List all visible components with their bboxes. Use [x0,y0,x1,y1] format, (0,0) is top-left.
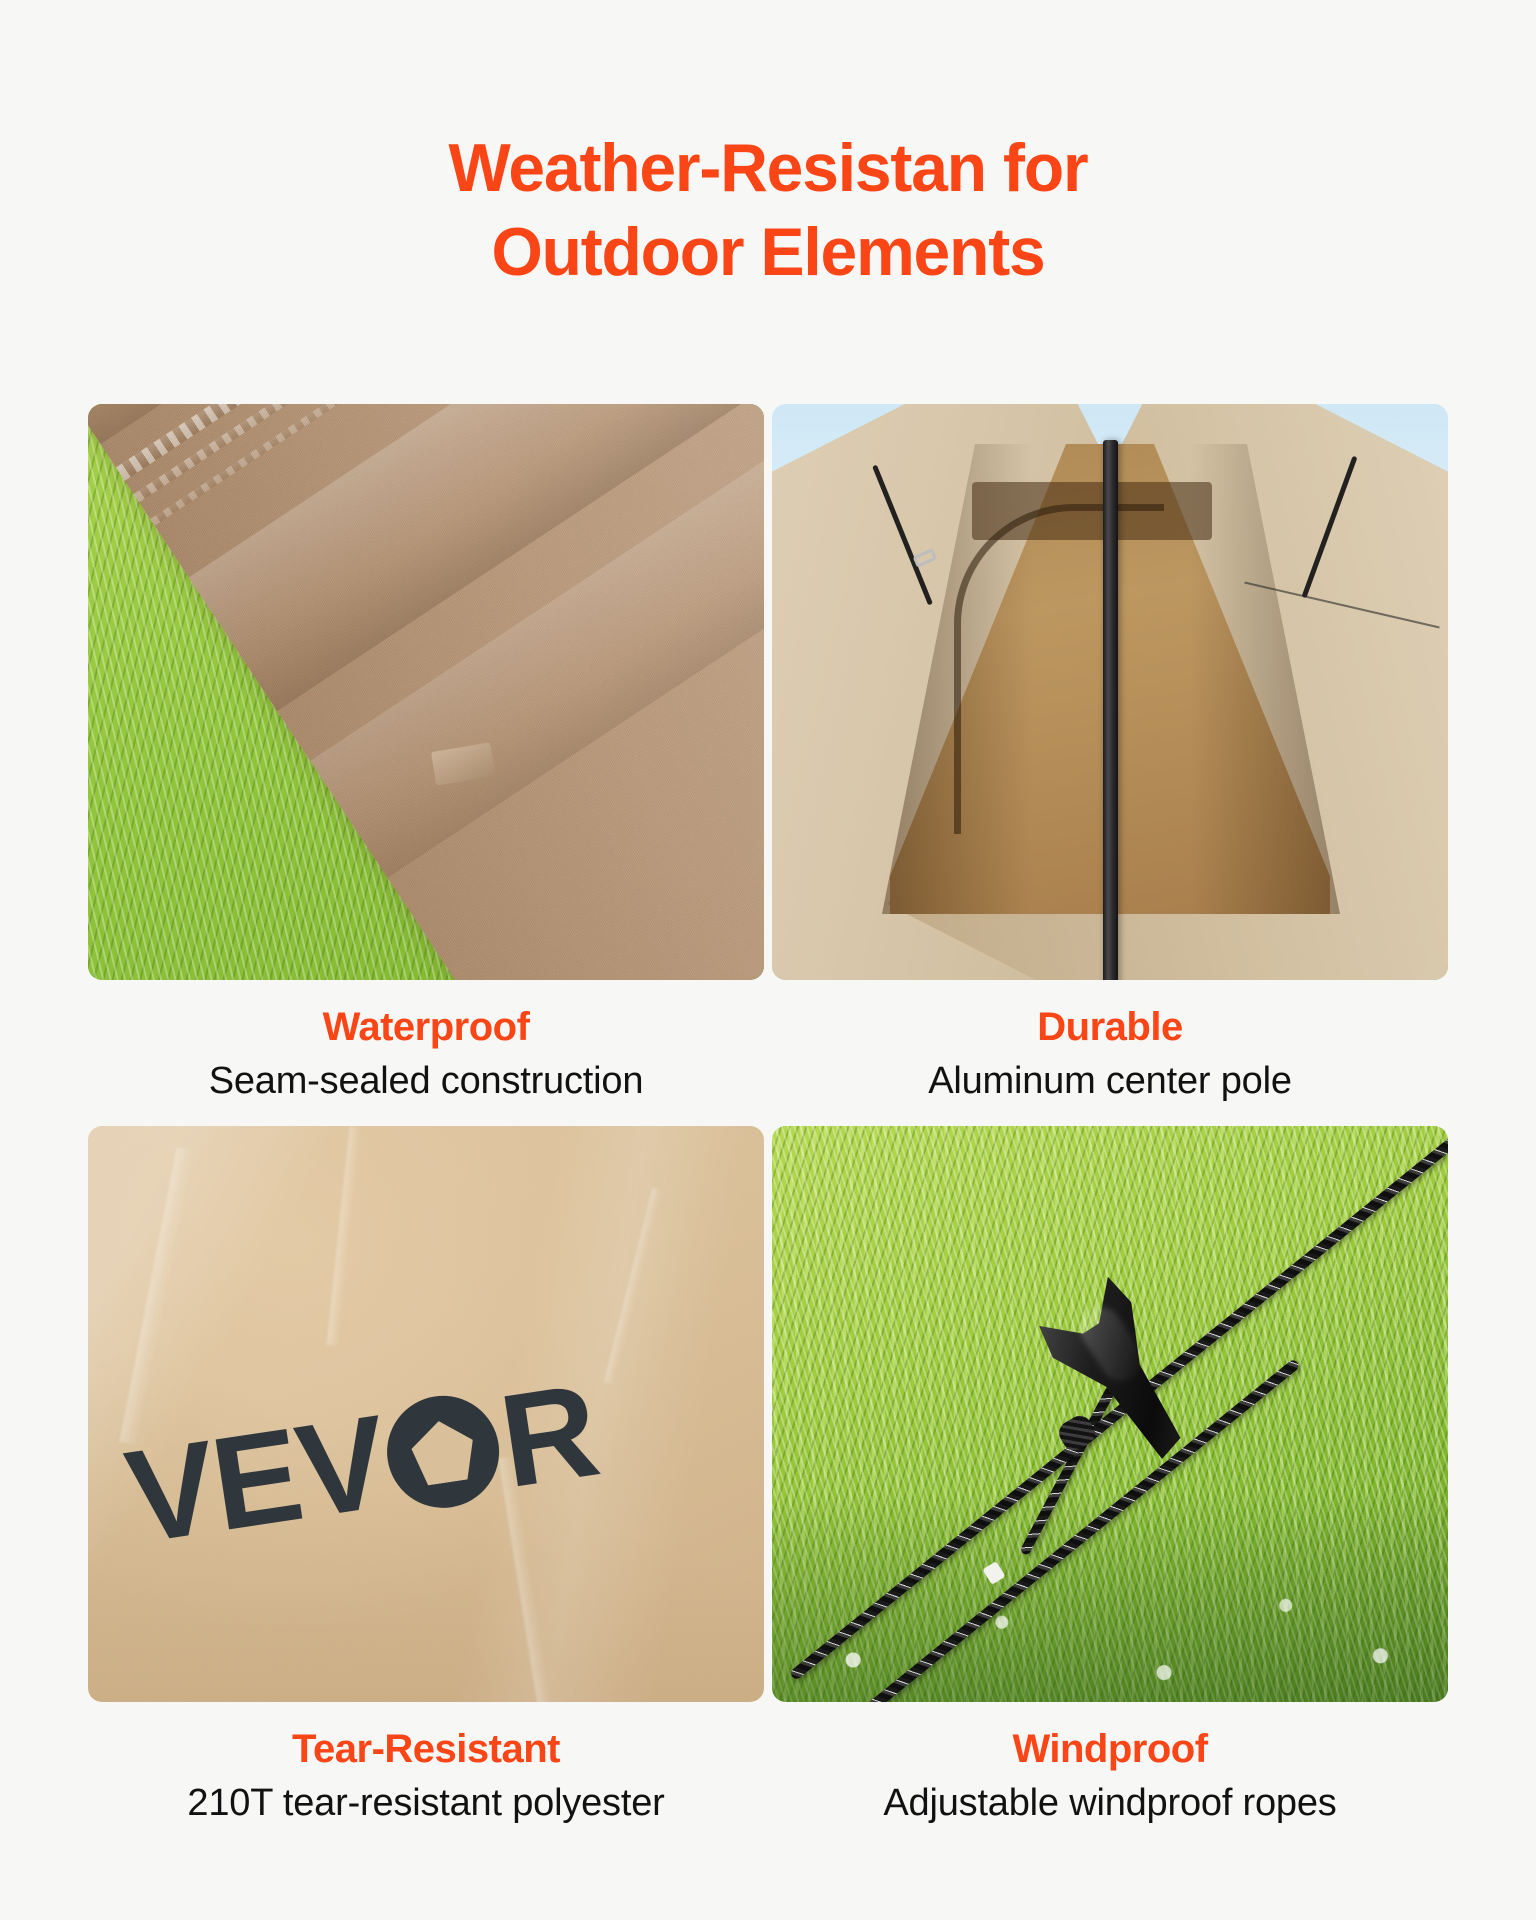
feature-card-tear-resistant: VEV R Tear-Resistant 210T tear-resistant… [88,1126,764,1830]
feature-subtitle: 210T tear-resistant polyester [88,1774,764,1830]
feature-image-waterproof [88,404,764,980]
feature-card-waterproof: Waterproof Seam-sealed construction [88,404,764,1108]
feature-title: Waterproof [88,1002,764,1052]
feature-caption-durable: Durable Aluminum center pole [772,980,1448,1108]
aluminum-center-pole [1103,440,1118,980]
feature-subtitle: Adjustable windproof ropes [772,1774,1448,1830]
feature-subtitle: Seam-sealed construction [88,1052,764,1108]
page-title-line-2: Outdoor Elements [23,210,1513,294]
feature-caption-waterproof: Waterproof Seam-sealed construction [88,980,764,1108]
feature-grid: Waterproof Seam-sealed construction [88,404,1448,1830]
vevor-logo-text-part1: VEV [119,1395,394,1564]
vevor-logo-o-icon [380,1388,507,1515]
vevor-logo-text-part2: R [493,1364,605,1508]
page-title-line-1: Weather-Resistan for [23,126,1513,210]
feature-image-durable [772,404,1448,980]
feature-caption-tear-resistant: Tear-Resistant 210T tear-resistant polye… [88,1702,764,1830]
feature-subtitle: Aluminum center pole [772,1052,1448,1108]
tent-door-arc [954,504,1164,834]
page-title: Weather-Resistan for Outdoor Elements [23,126,1513,294]
feature-card-windproof: Windproof Adjustable windproof ropes [772,1126,1448,1830]
feature-title: Durable [772,1002,1448,1052]
feature-title: Windproof [772,1724,1448,1774]
feature-title: Tear-Resistant [88,1724,764,1774]
clover-patch [772,1492,1448,1702]
feature-image-tear-resistant: VEV R [88,1126,764,1702]
product-feature-page: Weather-Resistan for Outdoor Elements [0,0,1536,1920]
feature-card-durable: Durable Aluminum center pole [772,404,1448,1108]
feature-caption-windproof: Windproof Adjustable windproof ropes [772,1702,1448,1830]
feature-image-windproof [772,1126,1448,1702]
